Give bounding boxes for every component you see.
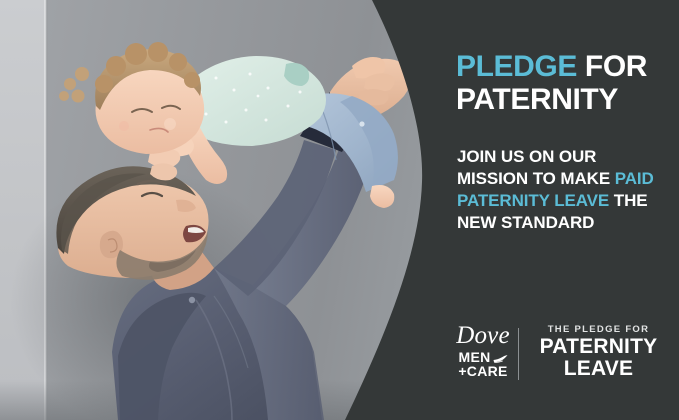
logo-lockup: Dove MEN +CARE THE PLEDGE FOR PATERNITY xyxy=(450,322,665,384)
pledge-paternity: PATERNITY xyxy=(532,336,665,358)
pledge-leave: LEAVE xyxy=(532,358,665,380)
pledge-lockup: THE PLEDGE FOR PATERNITY LEAVE xyxy=(532,324,665,380)
dove-bird-icon xyxy=(493,352,508,362)
headline-paternity: PATERNITY xyxy=(456,83,618,116)
lockup-divider xyxy=(518,328,519,380)
dove-men-row: MEN xyxy=(450,350,516,364)
ad-content: PLEDGE FOR PATERNITY JOIN US ON OUR MISS… xyxy=(0,0,679,420)
dove-men-label: MEN xyxy=(458,350,490,364)
paternity-pledge-ad: PLEDGE FOR PATERNITY JOIN US ON OUR MISS… xyxy=(0,0,679,420)
dove-men-care-logo: Dove MEN +CARE xyxy=(450,322,516,384)
dove-wordmark: Dove xyxy=(450,322,516,349)
dove-care-label: +CARE xyxy=(450,364,516,379)
headline-for: FOR xyxy=(577,50,647,83)
headline: PLEDGE FOR PATERNITY xyxy=(456,50,671,116)
headline-accent-pledge: PLEDGE xyxy=(456,50,577,83)
body-copy: JOIN US ON OUR MISSION TO MAKE PAID PATE… xyxy=(457,146,667,234)
body-copy-segment-1: JOIN US ON OUR MISSION TO MAKE xyxy=(457,147,615,188)
